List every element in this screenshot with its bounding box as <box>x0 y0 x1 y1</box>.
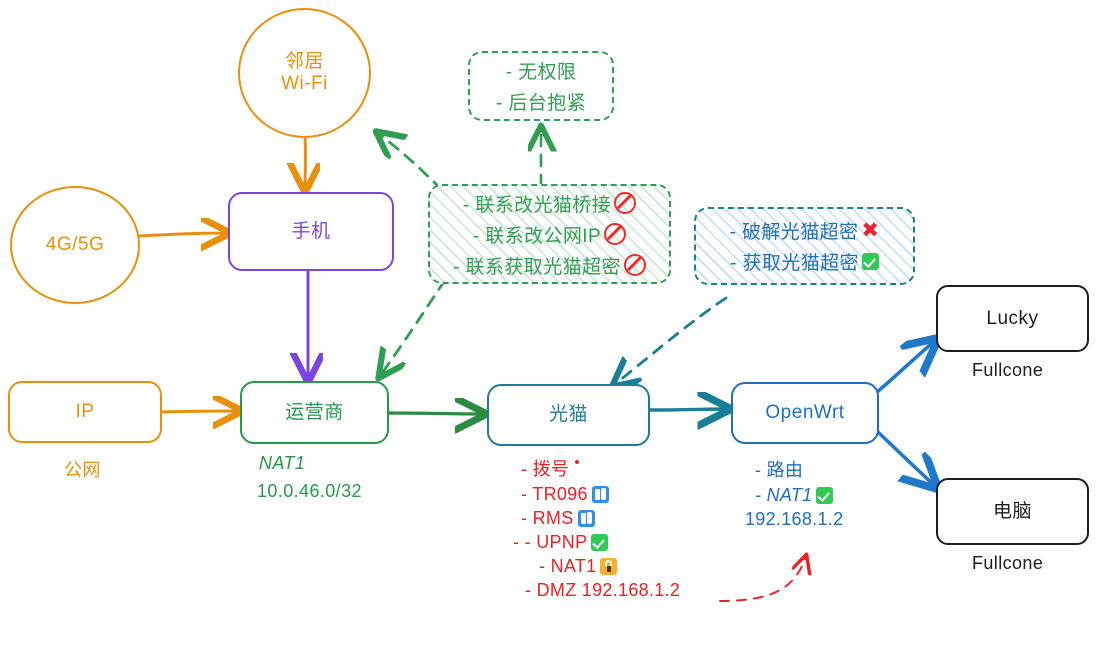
callout-no-permission[interactable]: - 无权限 - 后台抱紧 <box>468 51 614 121</box>
callout-contact-isp-text-2: - 联系获取光猫超密 <box>453 252 621 279</box>
edge-dmz-to-openwrt-ip <box>720 556 806 601</box>
edge-isp-to-onu <box>389 413 484 414</box>
node-openwrt[interactable]: OpenWrt <box>731 382 879 444</box>
node-isp-label: 运营商 <box>285 402 344 424</box>
check-mark-button-icon <box>862 253 879 270</box>
cross-mark-icon: ✖ <box>861 220 879 241</box>
prohibited-icon <box>614 192 636 214</box>
diagram-canvas: 邻居 Wi-Fi 4G/5G 手机 IP 公网 运营商 NAT1 10.0.46… <box>0 0 1099 645</box>
annotation-row: 192.168.1.2 <box>745 509 843 530</box>
check-mark-button-icon <box>591 534 608 551</box>
node-neighbor-wifi-line1: 邻居 <box>285 51 324 73</box>
node-neighbor-wifi[interactable]: 邻居 Wi-Fi <box>238 8 371 138</box>
node-ip-label: IP <box>76 401 95 423</box>
annotation-list-openwrt: - 路由 - NAT1 192.168.1.2 <box>755 456 843 533</box>
check-mark-button-icon <box>816 487 833 504</box>
node-onu-label: 光猫 <box>549 404 588 426</box>
node-phone[interactable]: 手机 <box>228 192 394 271</box>
node-onu[interactable]: 光猫 <box>487 384 650 446</box>
callout-superpassword-text-0: - 破解光猫超密 <box>730 217 859 244</box>
callout-superpassword[interactable]: - 破解光猫超密 ✖ - 获取光猫超密 <box>694 207 915 285</box>
prohibited-icon <box>624 254 646 276</box>
annotation-row: - 拨号 <box>521 455 680 481</box>
node-ip[interactable]: IP <box>8 381 162 443</box>
annotation-text-tr096: - TR096 <box>521 484 588 505</box>
annotation-text-upnp: - - UPNP <box>513 532 587 553</box>
prohibited-icon <box>604 223 626 245</box>
node-isp[interactable]: 运营商 <box>240 381 389 444</box>
edge-mobile-net-to-phone <box>140 233 228 236</box>
annotation-text-nat1: - NAT1 <box>539 556 596 577</box>
node-phone-label: 手机 <box>291 221 330 243</box>
node-computer[interactable]: 电脑 <box>936 478 1089 545</box>
baggage-claim-icon <box>578 510 595 527</box>
callout-superpassword-line-0: - 破解光猫超密 ✖ <box>696 217 913 244</box>
callout-contact-isp-line-1: - 联系改公网IP <box>430 221 669 248</box>
node-isp-caption-cidr: 10.0.46.0/32 <box>257 481 362 502</box>
annotation-row: - NAT1 <box>539 556 680 577</box>
annotation-row: - RMS <box>521 508 680 529</box>
callout-contact-isp-text-1: - 联系改公网IP <box>473 221 601 248</box>
dot-icon <box>575 460 579 464</box>
node-computer-label: 电脑 <box>993 501 1032 523</box>
node-mobile-net-label: 4G/5G <box>46 234 104 256</box>
callout-superpassword-line-1: - 获取光猫超密 <box>696 248 913 275</box>
node-openwrt-label: OpenWrt <box>765 402 844 424</box>
annotation-row: - DMZ 192.168.1.2 <box>525 580 680 601</box>
callout-contact-isp-line-0: - 联系改光猫桥接 <box>430 190 669 217</box>
annotation-text-dmz: - DMZ 192.168.1.2 <box>525 580 680 601</box>
annotation-row: - TR096 <box>521 484 680 505</box>
node-ip-caption: 公网 <box>64 456 101 482</box>
edge-contact-isp-to-phone <box>378 133 442 190</box>
node-neighbor-wifi-line2: Wi-Fi <box>281 73 328 95</box>
edge-superpassword-to-onu <box>614 298 726 385</box>
callout-contact-isp[interactable]: - 联系改光猫桥接 - 联系改公网IP - 联系获取光猫超密 <box>428 184 671 284</box>
node-lucky-label: Lucky <box>986 308 1038 330</box>
lock-icon <box>600 558 617 575</box>
node-lucky-caption: Fullcone <box>972 360 1043 381</box>
edge-ip-to-isp <box>162 411 240 412</box>
callout-contact-isp-line-2: - 联系获取光猫超密 <box>430 252 669 279</box>
callout-contact-isp-text-0: - 联系改光猫桥接 <box>463 190 611 217</box>
node-mobile-net[interactable]: 4G/5G <box>10 186 140 304</box>
node-lucky[interactable]: Lucky <box>936 285 1089 352</box>
annotation-text-lan-ip: 192.168.1.2 <box>745 509 843 530</box>
node-isp-caption-nat: NAT1 <box>259 453 305 474</box>
annotation-text-dialup: - 拨号 <box>521 455 569 481</box>
edge-openwrt-to-computer <box>878 432 936 487</box>
callout-superpassword-text-1: - 获取光猫超密 <box>730 248 859 275</box>
annotation-text-nat1: - NAT1 <box>755 485 812 506</box>
callout-no-permission-line-1: - 后台抱紧 <box>470 88 612 115</box>
annotation-text-route: - 路由 <box>755 456 803 482</box>
annotation-list-onu: - 拨号 - TR096 - RMS - - UPNP - NAT1 - DMZ… <box>513 455 680 604</box>
annotation-row: - - UPNP <box>513 532 680 553</box>
callout-no-permission-line-0: - 无权限 <box>470 57 612 84</box>
callout-no-permission-text-1: - 后台抱紧 <box>496 88 586 115</box>
edge-contact-isp-to-isp <box>380 280 445 376</box>
edge-onu-to-openwrt <box>650 409 728 410</box>
annotation-row: - NAT1 <box>755 485 843 506</box>
callout-no-permission-text-0: - 无权限 <box>506 57 577 84</box>
edge-openwrt-to-lucky <box>876 340 936 393</box>
node-computer-caption: Fullcone <box>972 553 1043 574</box>
annotation-row: - 路由 <box>755 456 843 482</box>
baggage-claim-icon <box>592 486 609 503</box>
annotation-text-rms: - RMS <box>521 508 574 529</box>
